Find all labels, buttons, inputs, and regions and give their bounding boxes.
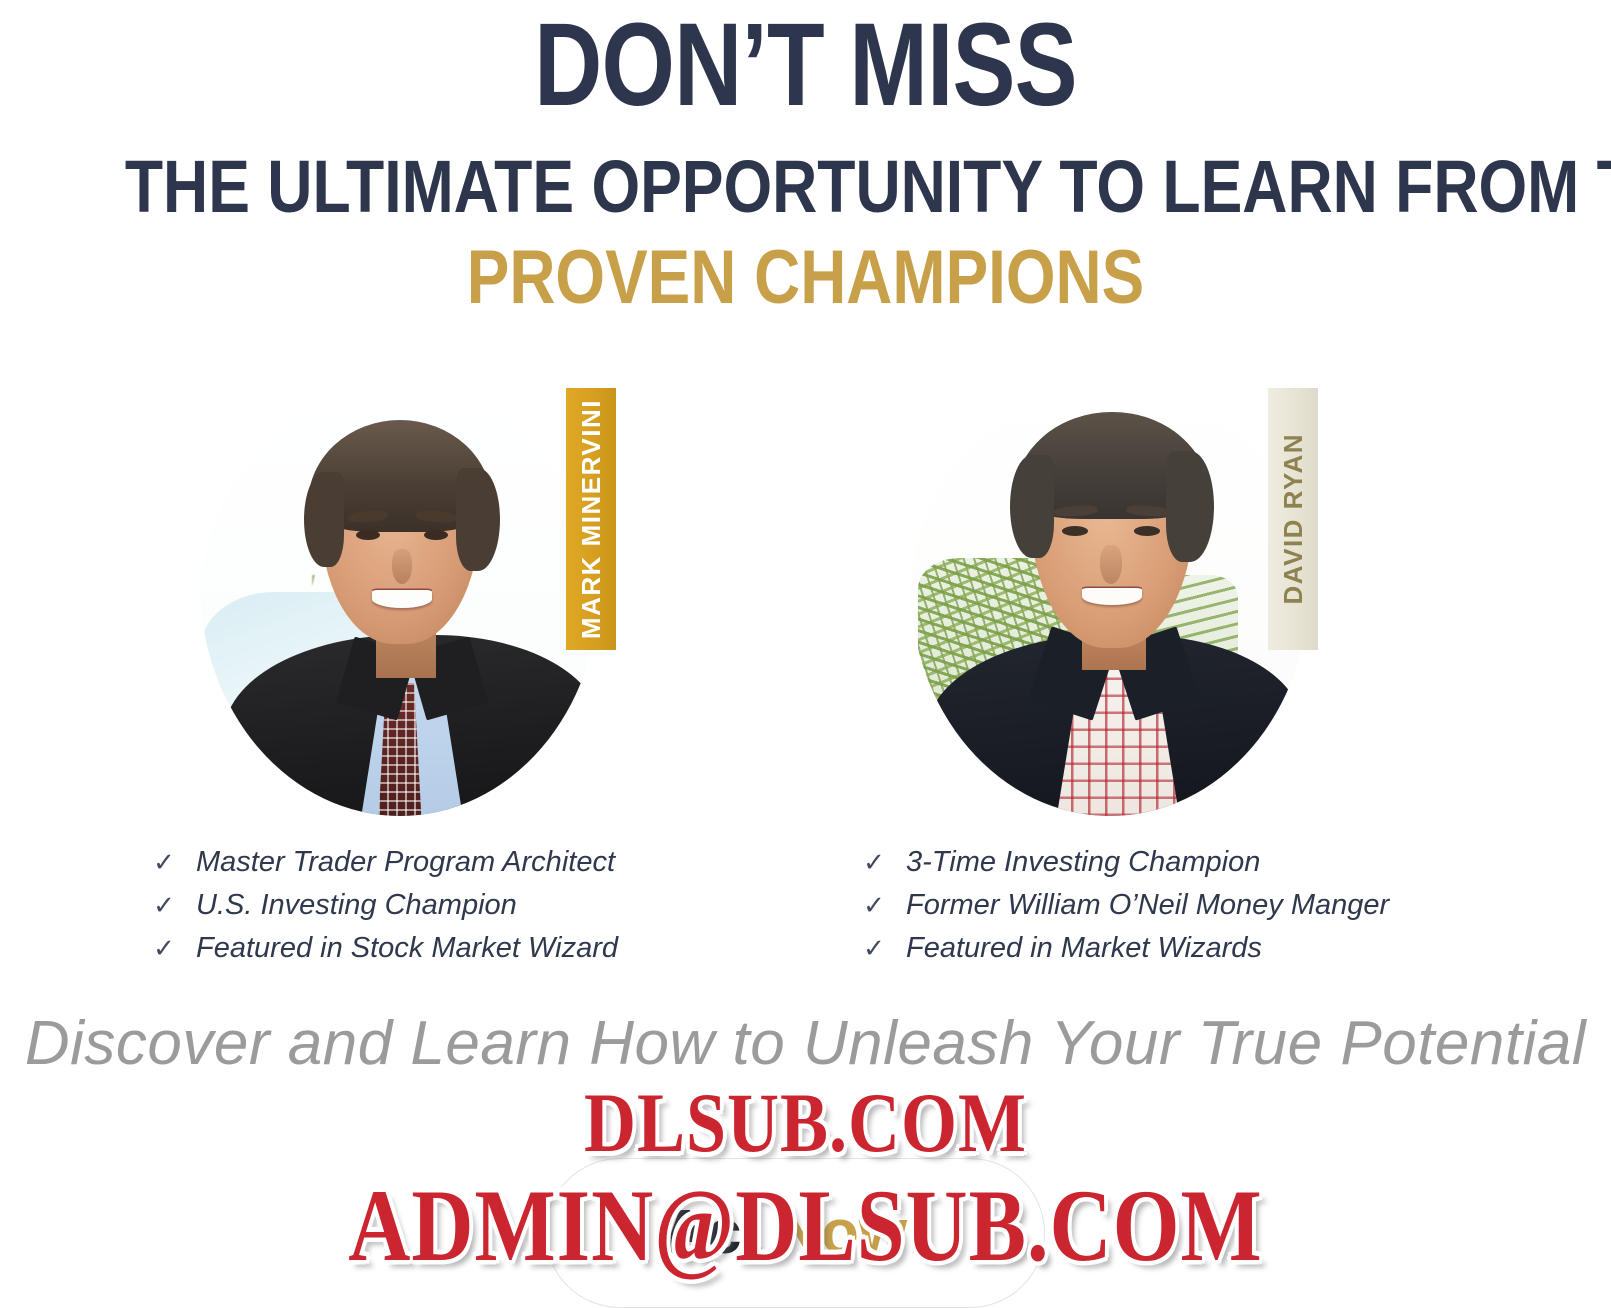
check-icon: ✓ <box>862 935 886 961</box>
list-item-label: Former William O’Neil Money Manger <box>906 889 1389 922</box>
check-icon: ✓ <box>152 892 176 918</box>
list-item-label: Featured in Market Wizards <box>906 932 1262 965</box>
list-item-label: Master Trader Program Architect <box>196 846 615 879</box>
portrait-eye-right <box>1134 526 1160 536</box>
check-icon: ✓ <box>862 892 886 918</box>
speakers-row: MARK MINERVINI <box>0 378 1611 848</box>
speaker-photo-david-ryan <box>910 386 1310 816</box>
list-item: ✓ Master Trader Program Architect <box>152 846 618 889</box>
tagline: Discover and Learn How to Unleash Your T… <box>0 1008 1611 1079</box>
watermark-site: DLSUB.COM <box>0 1082 1611 1165</box>
watermark-site-text: DLSUB.COM <box>584 1075 1027 1173</box>
portrait-illustration <box>910 386 1310 816</box>
check-icon: ✓ <box>152 849 176 875</box>
headline-line-1: DON’T MISS <box>161 6 1450 124</box>
list-item: ✓ U.S. Investing Champion <box>152 889 618 932</box>
speaker-photo-mark-minervini <box>200 386 600 816</box>
portrait-nose <box>1100 545 1122 584</box>
credentials-list-david-ryan: ✓ 3-Time Investing Champion ✓ Former Wil… <box>862 846 1389 975</box>
speaker-card-david-ryan: DAVID RYAN <box>880 378 1350 823</box>
list-item: ✓ Featured in Stock Market Wizard <box>152 932 618 975</box>
headline-block: DON’T MISS THE ULTIMATE OPPORTUNITY TO L… <box>0 0 1611 316</box>
portrait-illustration <box>200 386 600 816</box>
portrait-nose <box>392 549 412 583</box>
speaker-name-label: MARK MINERVINI <box>576 399 607 639</box>
list-item: ✓ 3-Time Investing Champion <box>862 846 1389 889</box>
headline-line-2: THE ULTIMATE OPPORTUNITY TO LEARN FROM T… <box>125 150 1486 224</box>
check-icon: ✓ <box>862 849 886 875</box>
list-item: ✓ Former William O’Neil Money Manger <box>862 889 1389 932</box>
portrait-hair-right <box>1166 451 1214 563</box>
speaker-name-bar-david-ryan: DAVID RYAN <box>1268 388 1318 650</box>
portrait-hair-right <box>456 468 500 571</box>
portrait-hair-left <box>304 472 344 567</box>
speaker-card-mark-minervini: MARK MINERVINI <box>170 378 640 823</box>
headline-line-3-highlight: PROVEN CHAMPIONS <box>129 240 1482 316</box>
list-item-label: U.S. Investing Champion <box>196 889 517 922</box>
list-item-label: Featured in Stock Market Wizard <box>196 932 618 965</box>
list-item-label: 3-Time Investing Champion <box>906 846 1260 879</box>
check-icon: ✓ <box>152 935 176 961</box>
portrait-eye-left <box>1062 526 1088 536</box>
watermark-email-text: ADMIN@DLSUB.COM <box>348 1165 1262 1285</box>
portrait-hair-left <box>1010 455 1054 558</box>
speaker-name-label: DAVID RYAN <box>1278 433 1309 605</box>
list-item: ✓ Featured in Market Wizards <box>862 932 1389 975</box>
credentials-list-mark-minervini: ✓ Master Trader Program Architect ✓ U.S.… <box>152 846 618 975</box>
watermark-email: ADMIN@DLSUB.COM <box>0 1175 1611 1275</box>
speaker-name-bar-mark-minervini: MARK MINERVINI <box>566 388 616 650</box>
